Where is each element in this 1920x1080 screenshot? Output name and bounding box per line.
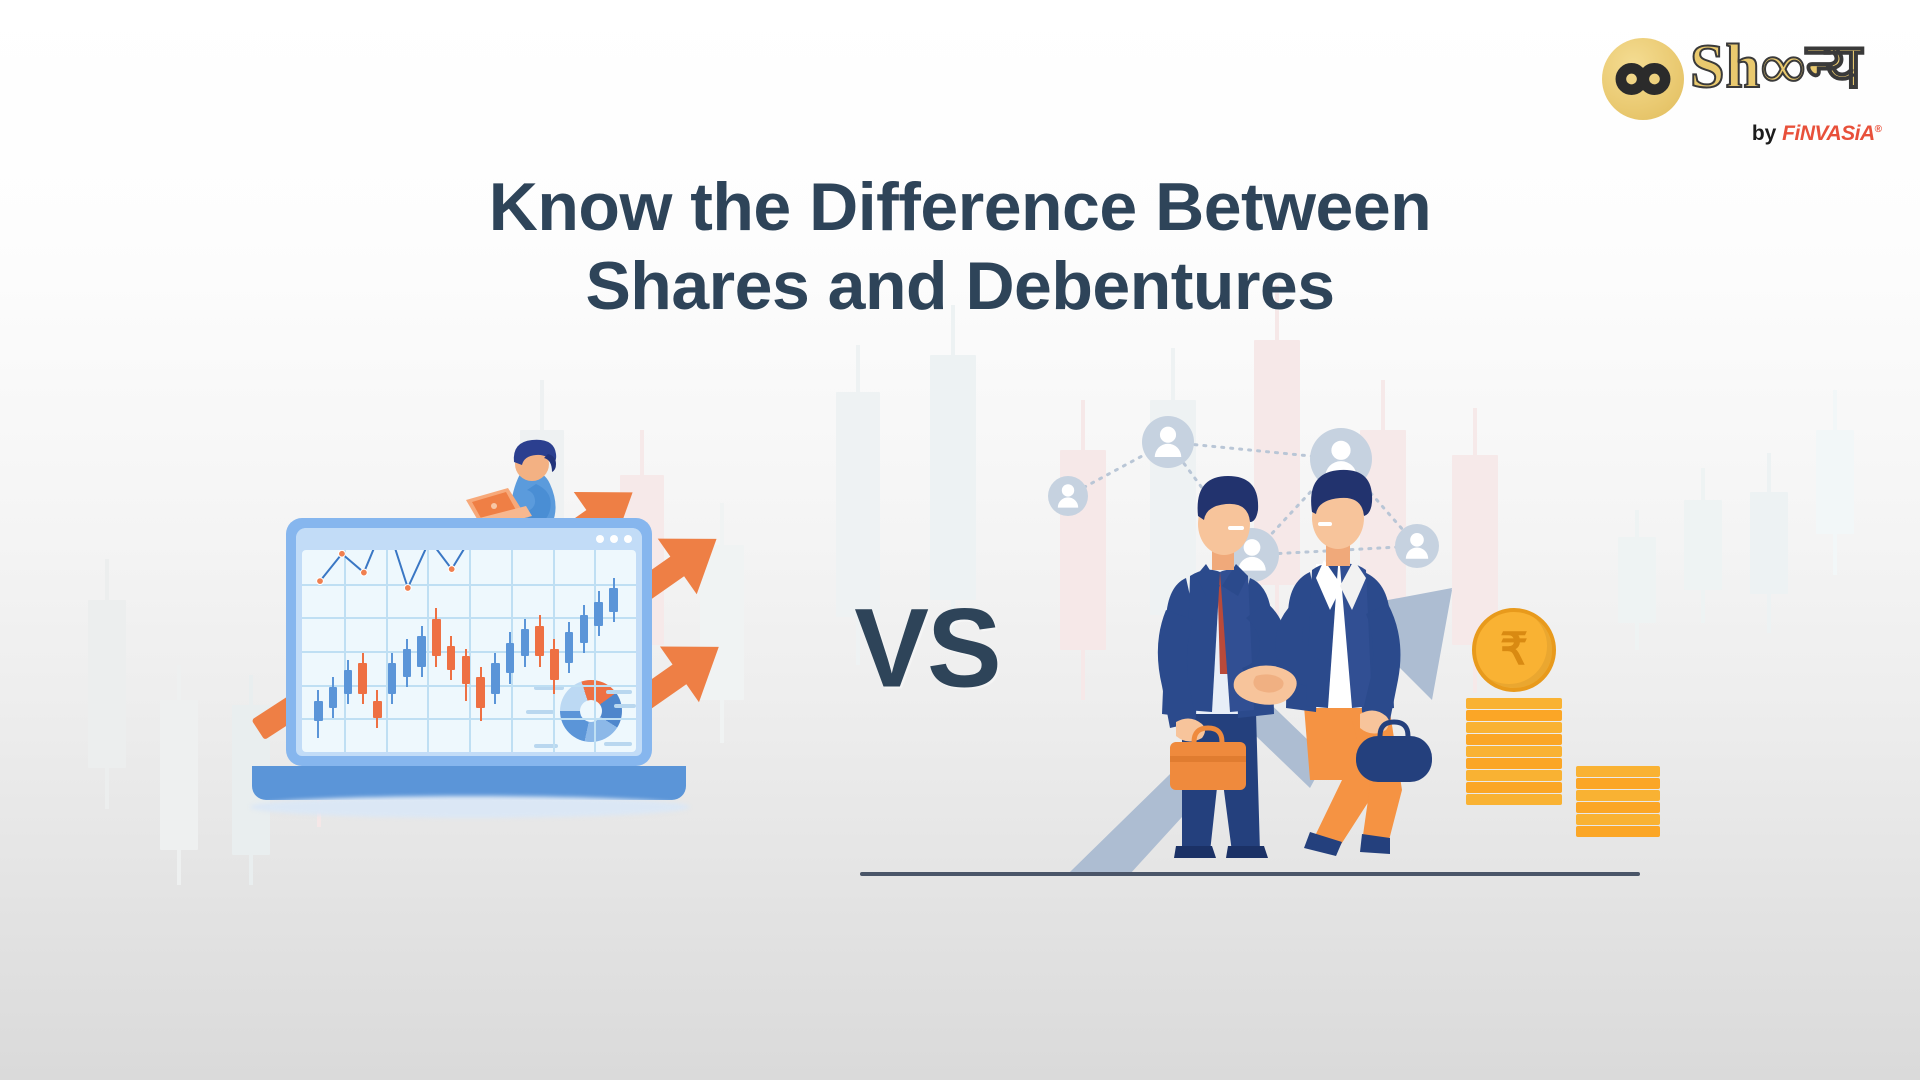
coin: [1466, 794, 1562, 805]
laptop-bezel: [296, 528, 642, 756]
brand-logo[interactable]: Sh∞न्य by FiNVASiA®: [1594, 30, 1894, 152]
page-title: Know the Difference Between Shares and D…: [0, 168, 1920, 326]
laptop-lid: [286, 518, 652, 766]
background-candle: [160, 665, 198, 885]
background-candle: [1750, 453, 1788, 633]
laptop-base: [252, 766, 686, 800]
logo-wordmark: Sh∞न्य: [1690, 36, 1862, 98]
background-candle: [1684, 468, 1722, 623]
trend-line-chart: [302, 550, 636, 752]
coin-stack-short: [1576, 766, 1660, 837]
businessman-right: [1276, 470, 1432, 856]
laptop-device: [286, 518, 652, 766]
coin: [1576, 802, 1660, 813]
registered-mark-icon: ®: [1875, 124, 1882, 135]
debentures-illustration: ₹: [1020, 380, 1640, 940]
coin: [1576, 778, 1660, 789]
coin: [1466, 710, 1562, 721]
coin: [1466, 782, 1562, 793]
coin: [1466, 758, 1562, 769]
trend-line-marker: [360, 569, 367, 576]
page-title-line-1: Know the Difference Between: [489, 169, 1431, 245]
shares-illustration: [250, 430, 750, 950]
coin: [1576, 766, 1660, 777]
ground-line: [860, 872, 1640, 876]
rupee-symbol-icon: ₹: [1500, 628, 1528, 672]
logo-parent-brand: FiNVASiA: [1782, 122, 1874, 145]
poster-canvas: Sh∞न्य by FiNVASiA® Know the Difference …: [0, 0, 1920, 1080]
coin: [1576, 826, 1660, 837]
coin: [1466, 746, 1562, 757]
coin: [1466, 770, 1562, 781]
window-titlebar: [296, 528, 642, 550]
trend-line-marker: [404, 585, 411, 592]
background-candle: [1816, 390, 1854, 575]
logo-byline: by FiNVASiA®: [1752, 122, 1882, 146]
infinity-icon: [1602, 38, 1684, 120]
coin: [1466, 734, 1562, 745]
coin: [1466, 722, 1562, 733]
rupee-coin: ₹: [1472, 608, 1556, 692]
background-candle: [88, 559, 126, 809]
coin: [1576, 790, 1660, 801]
laptop-shadow: [250, 796, 690, 818]
coin: [1466, 698, 1562, 709]
coin-stack-tall: [1466, 698, 1562, 805]
vs-divider-label: VS: [854, 584, 999, 713]
handshake-deal: [1070, 460, 1490, 880]
trend-line-marker: [448, 566, 455, 573]
window-control-dots[interactable]: [596, 535, 632, 543]
trend-line-marker: [317, 578, 324, 585]
page-title-line-2: Shares and Debentures: [0, 247, 1920, 326]
coin: [1576, 814, 1660, 825]
trend-line-marker: [339, 550, 346, 557]
logo-by-prefix: by: [1752, 122, 1777, 145]
trading-chart-screen: [302, 550, 636, 752]
